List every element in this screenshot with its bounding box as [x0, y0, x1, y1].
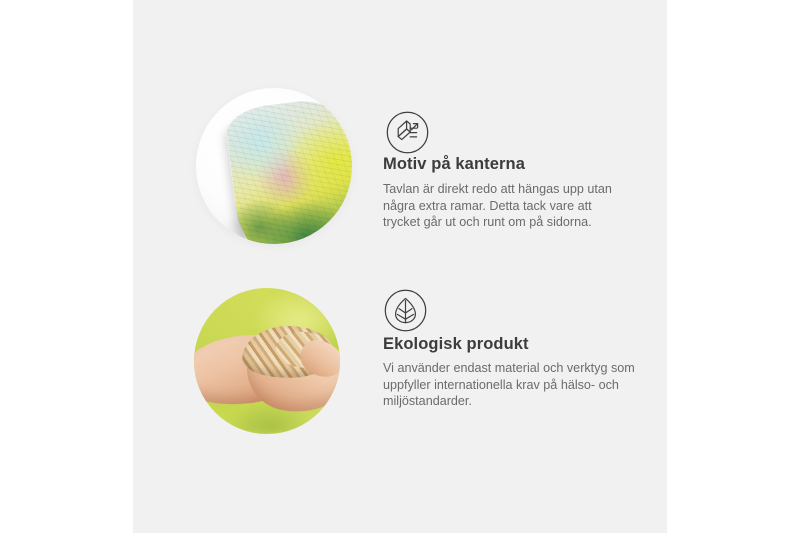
product-feature-panel: Motiv på kanterna Tavlan är direkt redo … [0, 0, 800, 533]
feature-body-line: Tavlan är direkt redo att hängas upp uta… [383, 181, 645, 198]
feature-title-edges: Motiv på kanterna [383, 155, 525, 174]
feature-block-eco: Ekologisk produkt Vi använder endast mat… [133, 255, 667, 533]
canvas-print-corner-photo [196, 88, 352, 244]
feature-body-line: Vi använder endast material och verktyg … [383, 360, 645, 377]
feature-body-line: miljöstandarder. [383, 393, 645, 410]
feature-block-edges: Motiv på kanterna Tavlan är direkt redo … [133, 0, 667, 270]
feature-body-line: några extra ramar. Detta tack vare att [383, 198, 645, 215]
feature-body-edges: Tavlan är direkt redo att hängas upp uta… [383, 181, 645, 231]
feature-body-line: uppfyller internationella krav på hälso-… [383, 377, 645, 394]
leaf-icon [383, 288, 428, 333]
feature-body-eco: Vi använder endast material och verktyg … [383, 360, 645, 410]
canvas-wrapped-edge-icon [385, 110, 430, 155]
hands-holding-wood-chips-photo [194, 288, 340, 434]
canvas-print-texture [224, 94, 352, 244]
content-panel: Motiv på kanterna Tavlan är direkt redo … [133, 0, 667, 533]
feature-title-eco: Ekologisk produkt [383, 335, 529, 354]
feature-body-line: trycket går ut och runt om på sidorna. [383, 214, 645, 231]
